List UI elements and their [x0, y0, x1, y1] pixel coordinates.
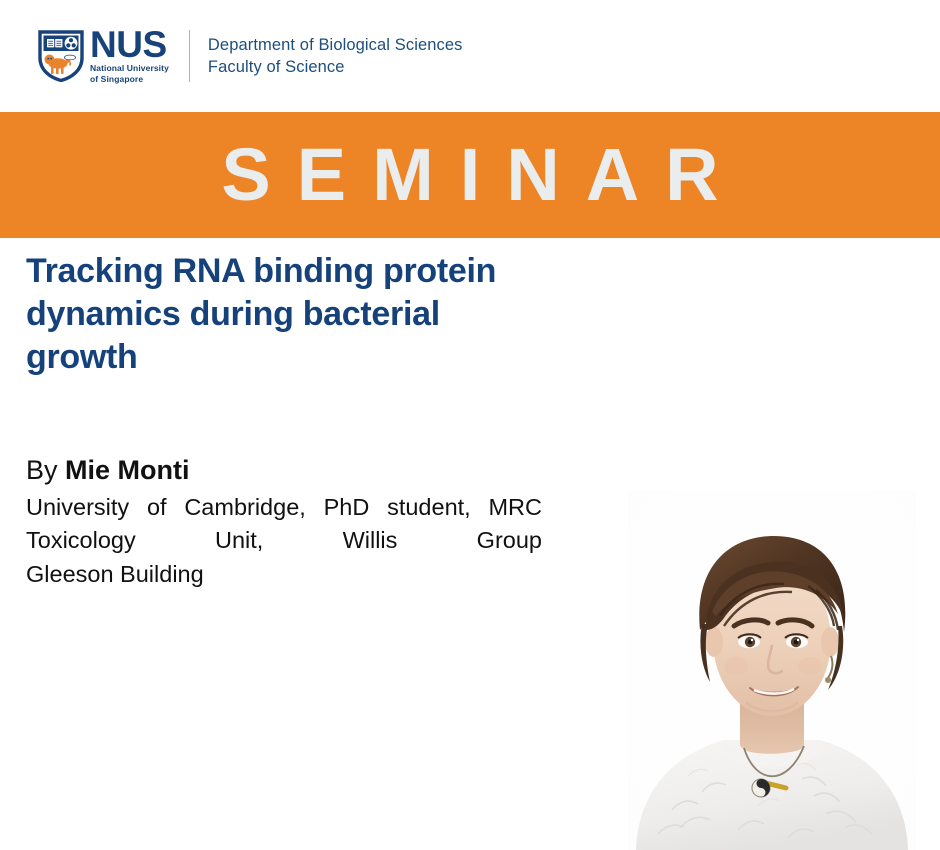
nus-logo: NUS National University of Singapore	[38, 28, 169, 84]
department-text: Department of Biological Sciences Facult…	[208, 34, 463, 79]
speaker-name: Mie Monti	[65, 455, 189, 485]
nus-letters: NUS	[90, 28, 169, 62]
nus-crest-shield-icon	[38, 30, 84, 82]
speaker-by-line: By Mie Monti	[26, 454, 546, 487]
speaker-affiliation: University of Cambridge, PhD student, MR…	[26, 491, 542, 558]
by-word: By	[26, 455, 65, 485]
poster-header: NUS National University of Singapore Dep…	[0, 0, 940, 112]
speaker-details: By Mie Monti University of Cambridge, Ph…	[26, 454, 546, 591]
poster-body: Tracking RNA binding protein dynamics du…	[0, 238, 940, 650]
nus-subtitle-line2: of Singapore	[90, 74, 143, 84]
speaker-portrait-photo	[628, 490, 916, 850]
seminar-venue: Gleeson Building	[26, 558, 542, 591]
seminar-poster: NUS National University of Singapore Dep…	[0, 0, 940, 650]
seminar-title: Tracking RNA binding protein dynamics du…	[26, 250, 526, 380]
nus-subtitle-line1: National University	[90, 63, 169, 73]
banner-label: SEMINAR	[195, 138, 744, 212]
nus-wordmark: NUS National University of Singapore	[90, 28, 169, 84]
seminar-banner: SEMINAR	[0, 112, 940, 238]
department-line-1: Department of Biological Sciences	[208, 34, 463, 56]
header-divider	[189, 30, 190, 82]
department-line-2: Faculty of Science	[208, 56, 463, 78]
nus-subtitle: National University of Singapore	[90, 63, 169, 84]
